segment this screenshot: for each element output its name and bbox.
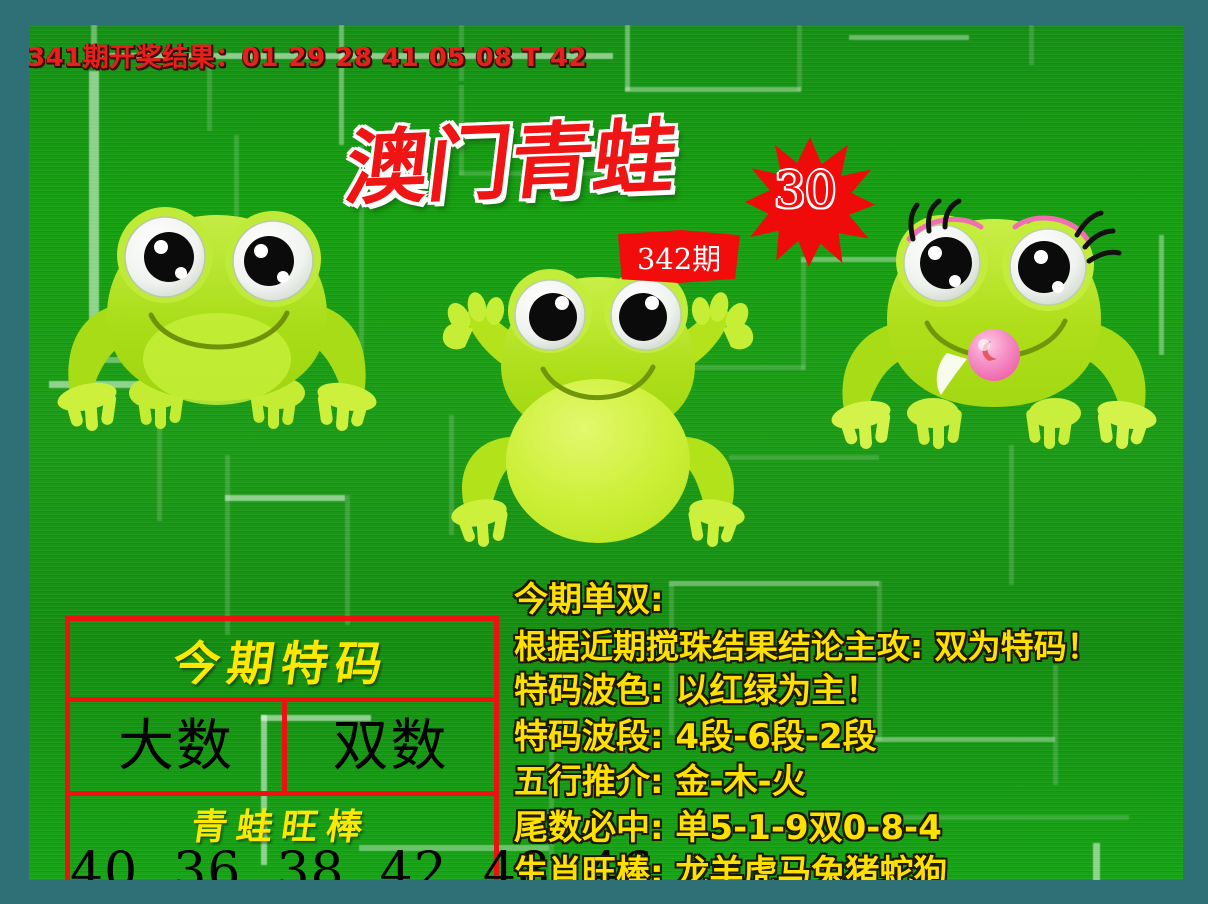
grid-line (625, 87, 801, 92)
table-header-label: 今期特码 (65, 621, 500, 697)
issue-ribbon-label: 342期 (618, 230, 740, 283)
table-header-row: 今期特码 (70, 621, 494, 702)
grid-line (225, 495, 345, 501)
prediction-info-list: 今期单双: 根据近期搅珠结果结论主攻: 双为特码！ 特码波色: 以红绿为主！ 特… (514, 578, 1100, 880)
info-line-5: 尾数必中: 单5-1-9双0-8-4 (514, 806, 1100, 852)
poster-root: 341期开奖结果：01 29 28 41 05 08 T 42 (0, 0, 1208, 904)
frog-center (433, 265, 763, 565)
grid-line (345, 495, 350, 625)
info-line-3: 特码波段: 4段-6段-2段 (514, 715, 1100, 761)
grid-line (225, 455, 230, 635)
table-cell-label-1: 双数 (333, 719, 449, 775)
grid-line (1159, 235, 1164, 355)
lottery-result-text: 341期开奖结果：01 29 28 41 05 08 T 42 (29, 37, 587, 74)
info-line-0: 今期单双: (514, 578, 1100, 624)
table-cell-even-number: 双数 (287, 702, 494, 791)
special-code-table: 今期特码 大数 双数 青蛙旺棒 40. 36. 38. 42. 48. 46 (65, 616, 499, 880)
grid-line (1009, 445, 1014, 585)
page-title: 澳门青蛙 (341, 117, 681, 212)
table-numbers-row: 青蛙旺棒 40. 36. 38. 42. 48. 46 (70, 796, 494, 880)
frog-left (59, 197, 379, 447)
table-cell-label-0: 大数 (118, 719, 234, 775)
grid-line (801, 260, 806, 370)
recommended-numbers: 40. 36. 38. 42. 48. 46 (70, 842, 494, 880)
info-line-2: 特码波色: 以红绿为主！ (514, 669, 1100, 715)
burst-number: 30 (774, 161, 836, 219)
info-line-1: 根据近期搅珠结果结论主攻: 双为特码！ (514, 624, 1100, 670)
table-cell-big-number: 大数 (70, 702, 287, 791)
info-line-4: 五行推介: 金-木-火 (514, 760, 1100, 806)
frog-right (829, 203, 1159, 463)
table-value-row: 大数 双数 (70, 702, 494, 796)
green-field-background: 341期开奖结果：01 29 28 41 05 08 T 42 (29, 25, 1183, 880)
lottery-result-banner: 341期开奖结果：01 29 28 41 05 08 T 42 (29, 37, 1183, 71)
info-line-6: 生肖旺棒: 龙羊虎马兔猪蛇狗 (514, 851, 1100, 880)
